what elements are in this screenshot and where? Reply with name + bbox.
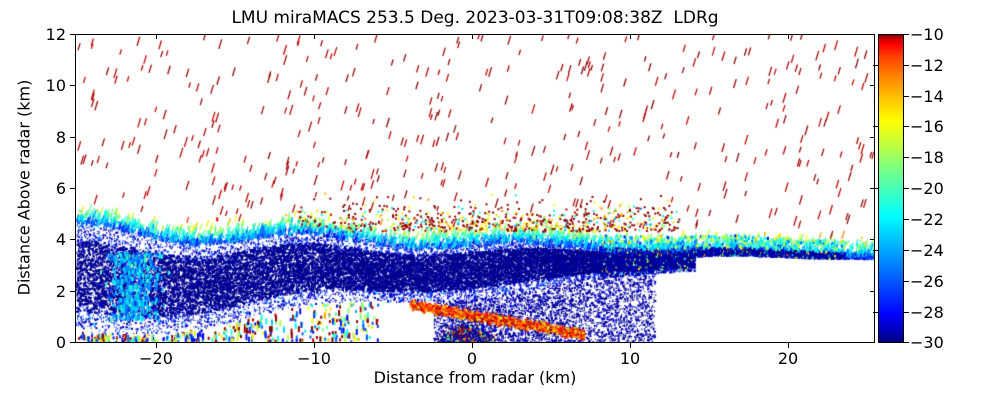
xtick-mark-top: [156, 34, 157, 39]
radar-scatter-plot: [76, 35, 875, 343]
colorbar-tick: [904, 312, 909, 313]
colorbar-tick-label: −16: [910, 118, 944, 136]
colorbar-tick: [904, 96, 909, 97]
colorbar-tick-left: [873, 126, 878, 127]
ytick-mark: [70, 85, 75, 86]
xtick-mark-top: [314, 34, 315, 39]
xtick-mark-top: [630, 34, 631, 39]
xtick-label: −10: [284, 350, 344, 368]
colorbar-tick-label: −22: [910, 211, 944, 229]
colorbar-tick-label: −14: [910, 88, 944, 106]
ytick-mark-right: [870, 34, 875, 35]
ytick-mark-right: [870, 137, 875, 138]
ytick-mark: [70, 137, 75, 138]
colorbar-tick-label: −28: [910, 304, 944, 322]
colorbar-tick-left: [873, 188, 878, 189]
x-axis-label: Distance from radar (km): [75, 368, 875, 387]
xtick-mark: [788, 343, 789, 348]
colorbar-tick-left: [873, 250, 878, 251]
colorbar-tick: [904, 250, 909, 251]
colorbar-tick-left: [873, 312, 878, 313]
colorbar-tick: [904, 188, 909, 189]
plot-axes[interactable]: [75, 34, 875, 343]
xtick-label: 20: [758, 350, 818, 368]
colorbar-tick-label: −20: [910, 180, 944, 198]
ytick-mark: [70, 342, 75, 343]
colorbar-tick-label: −24: [910, 242, 944, 260]
figure-canvas: LMU miraMACS 253.5 Deg. 2023-03-31T09:08…: [0, 0, 1000, 400]
xtick-mark: [156, 343, 157, 348]
colorbar-tick-label: −10: [910, 26, 944, 44]
colorbar-tick: [904, 65, 909, 66]
ytick-mark: [70, 34, 75, 35]
colorbar-tick-label: −26: [910, 273, 944, 291]
colorbar-tick-label: −12: [910, 57, 944, 75]
colorbar-tick: [904, 157, 909, 158]
xtick-mark-top: [788, 34, 789, 39]
colorbar-tick-label: −18: [910, 149, 944, 167]
ytick-mark-right: [870, 342, 875, 343]
xtick-label: 10: [600, 350, 660, 368]
xtick-mark: [472, 343, 473, 348]
colorbar-tick: [904, 34, 909, 35]
ytick-mark: [70, 291, 75, 292]
ytick-mark-right: [870, 85, 875, 86]
xtick-label: −20: [126, 350, 186, 368]
xtick-mark-top: [472, 34, 473, 39]
colorbar-tick: [904, 126, 909, 127]
ytick-mark-right: [870, 239, 875, 240]
xtick-mark: [314, 343, 315, 348]
y-axis-label: Distance Above radar (km): [15, 28, 34, 348]
ytick-mark: [70, 239, 75, 240]
xtick-label: 0: [442, 350, 502, 368]
colorbar-tick: [904, 342, 909, 343]
colorbar: [878, 34, 904, 343]
colorbar-tick: [904, 281, 909, 282]
xtick-mark: [630, 343, 631, 348]
colorbar-tick-left: [873, 65, 878, 66]
colorbar-tick: [904, 219, 909, 220]
ytick-mark-right: [870, 291, 875, 292]
colorbar-tick-label: −30: [910, 334, 944, 352]
page-title: LMU miraMACS 253.5 Deg. 2023-03-31T09:08…: [75, 8, 875, 28]
ytick-mark: [70, 188, 75, 189]
